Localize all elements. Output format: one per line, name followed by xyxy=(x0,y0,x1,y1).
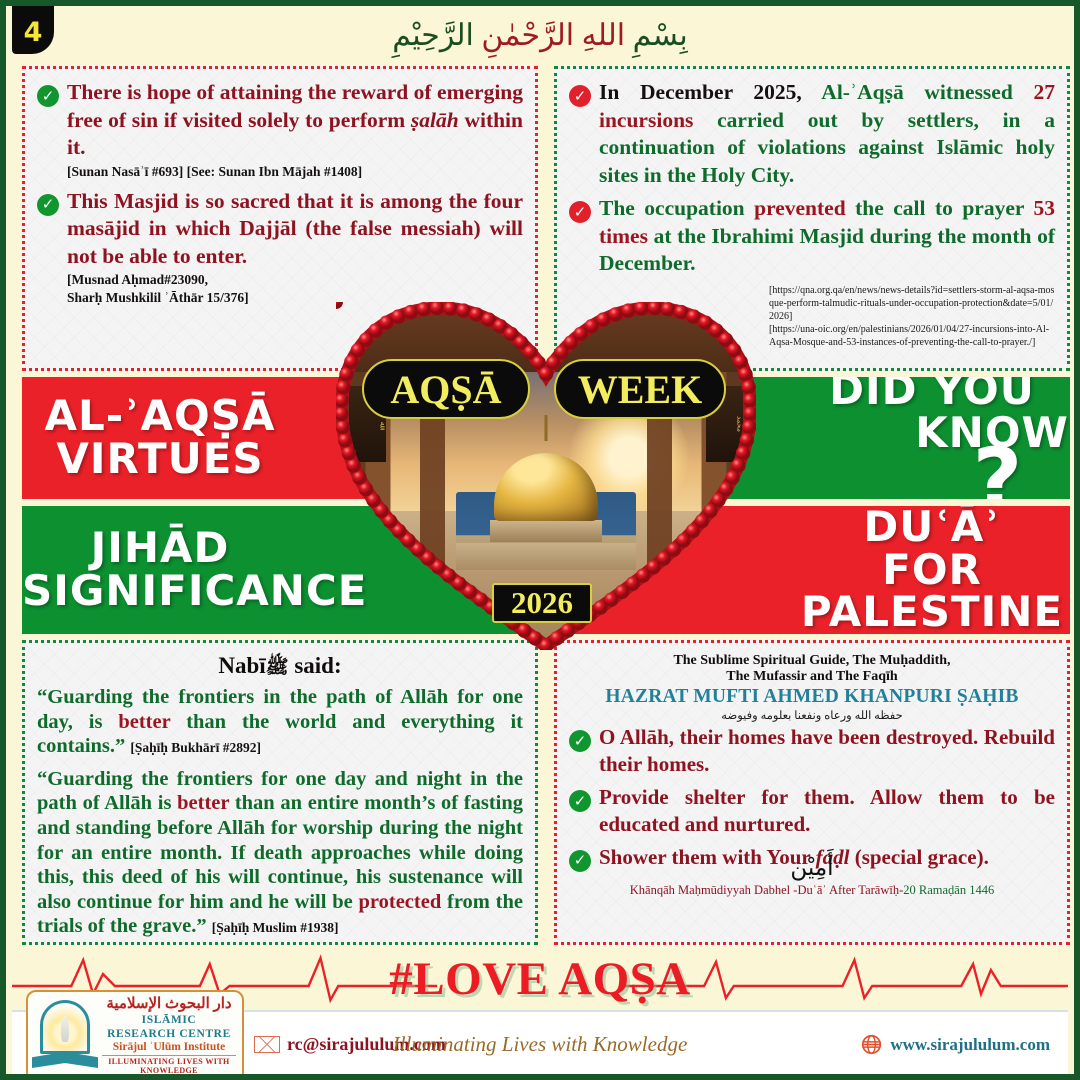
dua-guide-title: The Sublime Spiritual Guide, The Muḥaddi… xyxy=(569,653,1055,685)
jihad-quote-2: “Guarding the frontiers for one day and … xyxy=(37,767,523,939)
dua-item-2: Provide shelter for them. Allow them to … xyxy=(599,784,1055,838)
bismillah-calligraphy: بِسْمِ اللهِ الرَّحْمٰنِ الرَّحِيْمِ xyxy=(12,14,1068,58)
dua-arabic-honorific: حفظه الله ورعاه ونفعنا بعلومه وفيوضه xyxy=(569,708,1055,722)
footer-website[interactable]: www.sirajululum.com xyxy=(861,1034,1050,1055)
virtue-1-italic: ṣalāh xyxy=(411,108,459,132)
fact-1-part-a: Al-ʾAqṣā witnessed xyxy=(802,80,1034,104)
dua-credit-date: 20 Ramaḍān 1446 xyxy=(903,883,994,897)
nabi-label: Nabī xyxy=(218,653,265,678)
check-circle-icon: ✓ xyxy=(37,194,59,216)
fact-1-count: 27 xyxy=(1034,80,1056,104)
website-url[interactable]: www.sirajululum.com xyxy=(890,1035,1050,1055)
dua-scholar-name: HAZRAT MUFTI AHMED KHANPURI ṢAḤIB xyxy=(569,686,1055,708)
hadith-reference: [Sunan Nasāʾī #693] [See: Sunan Ibn Māja… xyxy=(67,164,523,180)
panel-jihad-significance: Nabīﷺ said: “Guarding the frontiers in t… xyxy=(22,640,538,945)
poster-root: بِسْمِ اللهِ الرَّحْمٰنِ الرَّحِيْمِ 4 ✓… xyxy=(0,0,1080,1080)
check-circle-icon: ✓ xyxy=(37,85,59,107)
source-link-2[interactable]: [https://una-oic.org/en/palestinians/202… xyxy=(769,323,1055,349)
page-number-badge: 4 xyxy=(12,6,54,54)
nabi-said-heading: Nabīﷺ said: xyxy=(37,653,523,683)
dua-title-line-2: The Mufassir and The Faqīh xyxy=(569,669,1055,685)
logo-tagline: ILLUMINATING LIVES WITH KNOWLEDGE xyxy=(102,1055,236,1075)
fact-1-date: In December 2025, xyxy=(599,80,802,104)
salutation-icon: ﷺ xyxy=(266,657,289,678)
quote-2-keyword-1: better xyxy=(177,792,229,814)
bismillah-part-1: بِسْمِ xyxy=(633,19,688,52)
dua-credit: Khānqāh Maḥmūdiyyah Dabhel -Duʿāʾ After … xyxy=(569,883,1055,898)
dua-credit-source: Khānqāh Maḥmūdiyyah Dabhel -Duʿāʾ After … xyxy=(630,883,903,897)
hadith-reference: [Musnad Aḥmad#23090, xyxy=(67,272,523,288)
hadith-reference: [Ṣaḥīḥ Bukhārī #2892] xyxy=(130,740,261,755)
virtue-2-body: This Masjid is so sacred that it is amon… xyxy=(67,189,523,268)
hadith-reference: [Ṣaḥīḥ Muslim #1938] xyxy=(212,920,339,935)
dua-title-line-1: The Sublime Spiritual Guide, The Muḥaddi… xyxy=(569,653,1055,669)
virtue-text-1: There is hope of attaining the reward of… xyxy=(67,79,523,180)
check-circle-icon: ✓ xyxy=(569,85,591,107)
footer-bar: دار البحوث الإسلامية ISLĀMIC RESEARCH CE… xyxy=(12,1010,1068,1080)
fact-text-1: In December 2025, Al-ʾAqṣā witnessed 27 … xyxy=(599,79,1055,189)
check-circle-icon: ✓ xyxy=(569,850,591,872)
header-bar: بِسْمِ اللهِ الرَّحْمٰنِ الرَّحِيْمِ 4 xyxy=(12,12,1068,60)
bismillah-part-2: اللهِ الرَّحْمٰنِ xyxy=(481,19,625,52)
check-circle-icon: ✓ xyxy=(569,201,591,223)
badge-week: WEEK xyxy=(554,359,726,419)
heart-graphic: ﷲ محمد AQṢĀ WEEK 2026 xyxy=(336,302,756,650)
quote-2-keyword-2: protected xyxy=(358,891,441,913)
fact-1-keyword: incursions xyxy=(599,108,693,132)
list-item: ✓ There is hope of attaining the reward … xyxy=(37,79,523,180)
dua-3-part-a: Shower them with Your xyxy=(599,845,816,869)
strip-tr-line2-text: KNOW xyxy=(794,412,1070,455)
fact-text-2: The occupation prevented the call to pra… xyxy=(599,195,1055,278)
panel-dua-for-palestine: The Sublime Spiritual Guide, The Muḥaddi… xyxy=(554,640,1070,945)
logo-arabic-name: دار البحوث الإسلامية xyxy=(102,996,236,1013)
logo-name-line-1: ISLĀMIC xyxy=(102,1013,236,1027)
quote-1-keyword: better xyxy=(118,711,170,733)
dua-item-1: O Allāh, their homes have been destroyed… xyxy=(599,724,1055,778)
check-circle-icon: ✓ xyxy=(569,790,591,812)
virtues-list: ✓ There is hope of attaining the reward … xyxy=(37,79,523,307)
list-item: ✓ In December 2025, Al-ʾAqṣā witnessed 2… xyxy=(569,79,1055,189)
badge-aqsa: AQṢĀ xyxy=(362,359,530,419)
fact-2-part-c: at the Ibrahimi Masjid during the month … xyxy=(599,224,1055,276)
jihad-quote-1: “Guarding the frontiers in the path of A… xyxy=(37,685,523,759)
said-label: said: xyxy=(294,653,341,678)
fact-2-keyword: prevented xyxy=(754,196,846,220)
fact-2-part-a: The occupation xyxy=(599,196,754,220)
badge-year: 2026 xyxy=(492,583,592,623)
globe-icon xyxy=(861,1034,882,1055)
dua-list: ✓ O Allāh, their homes have been destroy… xyxy=(569,724,1055,872)
list-item: ✓ O Allāh, their homes have been destroy… xyxy=(569,724,1055,778)
list-item: ✓ The occupation prevented the call to p… xyxy=(569,195,1055,278)
source-link-1[interactable]: [https://qna.org.qa/en/news/news-details… xyxy=(769,284,1055,323)
list-item: ✓ Provide shelter for them. Allow them t… xyxy=(569,784,1055,838)
source-links: [https://qna.org.qa/en/news/news-details… xyxy=(769,284,1055,349)
virtue-text-2: This Masjid is so sacred that it is amon… xyxy=(67,188,523,307)
question-mark-icon: ? xyxy=(800,455,1070,499)
didyouknow-list: ✓ In December 2025, Al-ʾAqṣā witnessed 2… xyxy=(569,79,1055,278)
list-item: ✓ This Masjid is so sacred that it is am… xyxy=(37,188,523,307)
dua-3-part-b: (special grace). xyxy=(849,845,988,869)
bismillah-part-3: الرَّحِيْمِ xyxy=(392,19,474,52)
check-circle-icon: ✓ xyxy=(569,730,591,752)
fact-2-part-b: the call to prayer xyxy=(846,196,1034,220)
